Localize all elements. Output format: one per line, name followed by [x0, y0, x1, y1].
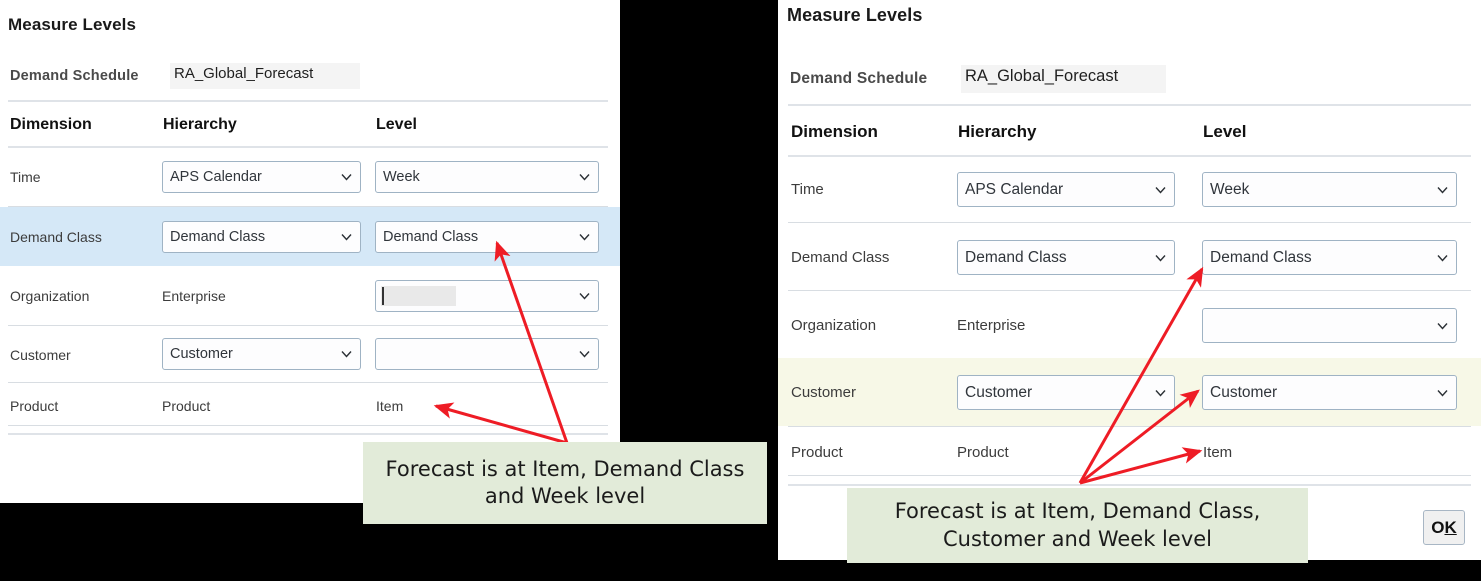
chevron-down-icon [341, 174, 352, 181]
row-dimension-label: Time [791, 181, 824, 198]
chevron-down-icon [1437, 389, 1448, 396]
level-text: Item [1203, 444, 1232, 461]
chevron-down-icon [341, 351, 352, 358]
level-select[interactable] [375, 280, 599, 312]
chevron-down-icon [1155, 389, 1166, 396]
column-header-dimension: Dimension [791, 122, 878, 142]
hierarchy-text: Product [162, 398, 210, 414]
level-select-value: Customer [1210, 384, 1277, 402]
level-select[interactable]: Customer [1202, 375, 1457, 410]
column-header-dimension: Dimension [10, 116, 92, 134]
row-dimension-label: Organization [10, 288, 89, 304]
chevron-down-icon [1155, 254, 1166, 261]
table-row[interactable]: Time APS Calendar Week [778, 156, 1481, 222]
hierarchy-select-value: APS Calendar [965, 181, 1063, 199]
hierarchy-text: Product [957, 444, 1009, 461]
level-text: Item [376, 398, 403, 414]
table-row[interactable]: Customer Customer Customer [778, 358, 1481, 426]
hierarchy-select[interactable]: APS Calendar [957, 172, 1175, 207]
chevron-down-icon [579, 174, 590, 181]
level-select-value: Week [1210, 181, 1249, 199]
row-divider [788, 475, 1471, 476]
measure-levels-panel-left: Measure Levels Demand Schedule RA_Global… [0, 0, 620, 503]
row-divider [788, 222, 1471, 223]
table-row[interactable]: Demand Class Demand Class Demand Class [778, 224, 1481, 290]
table-row[interactable]: Customer Customer [0, 326, 620, 382]
level-select[interactable]: Demand Class [375, 221, 599, 253]
demand-schedule-value: RA_Global_Forecast [961, 65, 1166, 93]
chevron-down-icon [1437, 254, 1448, 261]
hierarchy-select-value: Customer [965, 384, 1032, 402]
divider-bottom [788, 484, 1471, 486]
row-dimension-label: Demand Class [10, 229, 102, 245]
ok-button-label-pre: O [1431, 518, 1444, 538]
hierarchy-text: Enterprise [957, 317, 1025, 334]
hierarchy-select-value: Customer [170, 346, 233, 362]
chevron-down-icon [579, 351, 590, 358]
hierarchy-select[interactable]: Demand Class [957, 240, 1175, 275]
text-caret [382, 287, 384, 305]
table-row[interactable]: Time APS Calendar Week [0, 147, 620, 206]
callout-left: Forecast is at Item, Demand Class and We… [363, 442, 767, 524]
hierarchy-select[interactable]: Customer [162, 338, 361, 370]
row-dimension-label: Organization [791, 317, 876, 334]
row-divider [788, 290, 1471, 291]
hierarchy-select[interactable]: APS Calendar [162, 161, 361, 193]
chevron-down-icon [579, 234, 590, 241]
hierarchy-select[interactable]: Demand Class [162, 221, 361, 253]
level-select-selection-highlight [381, 286, 456, 306]
chevron-down-icon [1437, 186, 1448, 193]
level-select-value: Week [383, 169, 420, 185]
row-dimension-label: Product [10, 398, 58, 414]
row-dimension-label: Product [791, 444, 843, 461]
column-header-hierarchy: Hierarchy [958, 122, 1036, 142]
chevron-down-icon [341, 234, 352, 241]
chevron-down-icon [579, 293, 590, 300]
divider-top [788, 104, 1471, 106]
level-select-value: Demand Class [383, 229, 478, 245]
page-title: Measure Levels [8, 15, 136, 35]
chevron-down-icon [1437, 322, 1448, 329]
measure-levels-panel-right: Measure Levels Demand Schedule RA_Global… [778, 0, 1481, 560]
table-row[interactable]: Organization Enterprise [778, 292, 1481, 358]
row-dimension-label: Demand Class [791, 249, 889, 266]
row-dimension-label: Customer [10, 347, 71, 363]
divider-bottom [8, 433, 608, 435]
table-row[interactable]: Product Product Item [778, 428, 1481, 475]
hierarchy-select-value: Demand Class [170, 229, 265, 245]
hierarchy-text: Enterprise [162, 288, 226, 304]
ok-button[interactable]: OK [1423, 510, 1465, 545]
ok-button-label-accel: K [1444, 518, 1456, 538]
hierarchy-select-value: Demand Class [965, 249, 1067, 267]
table-row[interactable]: Product Product Item [0, 383, 620, 425]
demand-schedule-value: RA_Global_Forecast [170, 63, 360, 89]
callout-right: Forecast is at Item, Demand Class, Custo… [847, 488, 1308, 563]
table-row[interactable]: Demand Class Demand Class Demand Class [0, 207, 620, 266]
level-select[interactable]: Demand Class [1202, 240, 1457, 275]
column-header-level: Level [1203, 122, 1246, 142]
column-header-hierarchy: Hierarchy [163, 116, 237, 134]
hierarchy-select-value: APS Calendar [170, 169, 262, 185]
row-divider [8, 425, 608, 426]
table-row[interactable]: Organization Enterprise [0, 266, 620, 325]
level-select[interactable]: Week [1202, 172, 1457, 207]
demand-schedule-label: Demand Schedule [10, 68, 139, 84]
row-dimension-label: Time [10, 169, 41, 185]
level-select[interactable] [375, 338, 599, 370]
row-divider [788, 426, 1471, 427]
page-title: Measure Levels [787, 5, 922, 26]
hierarchy-select[interactable]: Customer [957, 375, 1175, 410]
column-header-level: Level [376, 116, 417, 134]
level-select[interactable]: Week [375, 161, 599, 193]
row-dimension-label: Customer [791, 384, 856, 401]
chevron-down-icon [1155, 186, 1166, 193]
divider-top [8, 100, 608, 102]
demand-schedule-label: Demand Schedule [790, 70, 927, 88]
level-select-value: Demand Class [1210, 249, 1312, 267]
level-select[interactable] [1202, 308, 1457, 343]
